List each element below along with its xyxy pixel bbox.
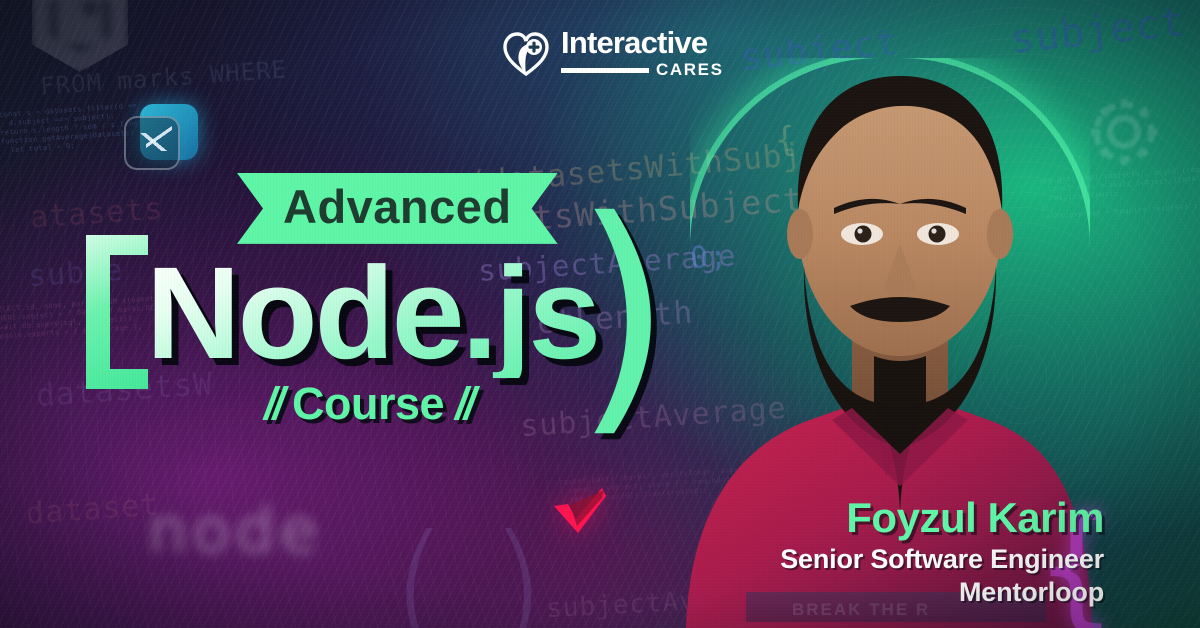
advanced-label: Advanced bbox=[283, 183, 512, 232]
bg-code-line: { bbox=[773, 119, 798, 161]
logo-divider-rule bbox=[561, 68, 649, 73]
bg-code-line: subject bbox=[738, 22, 900, 79]
instructor-name: Foyzul Karim bbox=[684, 494, 1104, 541]
hexagon-badge-icon bbox=[32, 0, 128, 72]
line-chart-tile-outline-icon bbox=[124, 116, 180, 170]
logo-subtitle: CARES bbox=[656, 60, 724, 80]
course-promo-banner: FROM marks WHERE (datasetsWithSubject) {… bbox=[0, 0, 1200, 628]
bg-code-line: subject bbox=[1008, 0, 1187, 63]
bg-code-line: FROM marks WHERE bbox=[39, 55, 288, 100]
line-chart-tile-icon bbox=[140, 104, 198, 160]
bg-code-line: subj bbox=[884, 297, 963, 337]
bg-micro-code: app.get('/api/subjects', async (req,res)… bbox=[1039, 163, 1200, 222]
instructor-role: Senior Software Engineer bbox=[684, 543, 1104, 576]
close-paren-decor bbox=[592, 232, 656, 392]
node-logo-watermark: node bbox=[148, 494, 323, 567]
parentheses-decor: ( ) bbox=[390, 516, 543, 628]
interactive-cares-logo[interactable]: Interactive CARES bbox=[503, 28, 724, 80]
check-mark-icon bbox=[552, 486, 608, 536]
right-slashes: // bbox=[455, 381, 472, 426]
logo-title: Interactive bbox=[561, 28, 707, 58]
bg-code-line: atasets bbox=[29, 191, 165, 235]
heart-care-icon bbox=[503, 30, 551, 78]
bg-micro-code: const s = datasets.filter(d => d.subject… bbox=[0, 99, 172, 156]
logo-subtitle-row: CARES bbox=[561, 60, 724, 80]
instructor-credit: Foyzul Karim Senior Software Engineer Me… bbox=[684, 494, 1104, 609]
course-title: Node.js bbox=[86, 232, 656, 392]
course-subtitle: // Course // bbox=[264, 381, 472, 426]
gear-icon bbox=[1078, 86, 1170, 178]
instructor-organization: Mentorloop bbox=[684, 576, 1104, 609]
open-bracket-decor bbox=[86, 235, 148, 389]
course-label: Course bbox=[292, 381, 444, 426]
logo-wordmark: Interactive CARES bbox=[561, 28, 724, 81]
course-title-text: Node.js bbox=[146, 247, 602, 378]
hexagon-badge-dot bbox=[82, 0, 98, 16]
bg-code-line: 0; bbox=[689, 239, 729, 277]
bg-code-line: dataset bbox=[25, 487, 161, 531]
left-slashes: // bbox=[264, 381, 281, 426]
